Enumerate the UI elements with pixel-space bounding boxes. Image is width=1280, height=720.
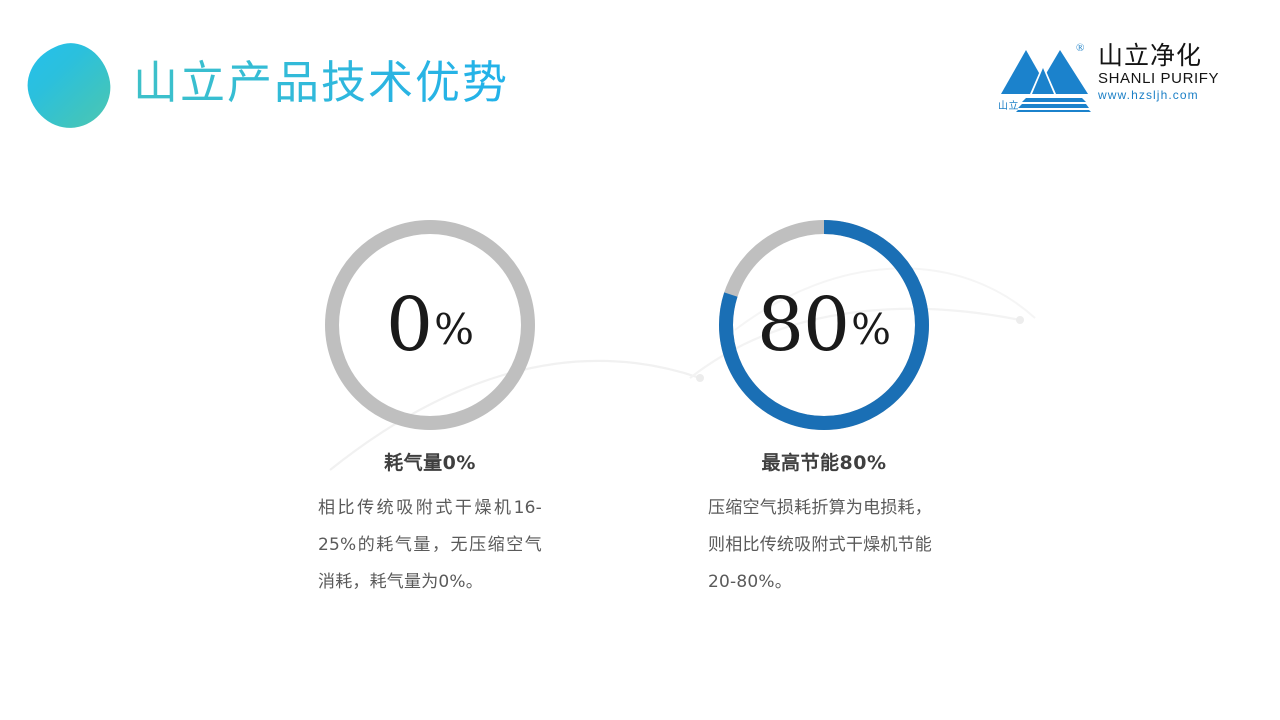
- donut-center-label-0: 0%: [325, 220, 535, 430]
- stat-card-description-0: 相比传统吸附式干燥机16-25%的耗气量，无压缩空气消耗，耗气量为0%。: [318, 490, 542, 601]
- stat-card-description-1: 压缩空气损耗折算为电损耗，则相比传统吸附式干燥机节能20-80%。: [708, 490, 932, 601]
- donut-value-0: 0: [386, 288, 432, 362]
- stat-card-energy-saving: 80% 最高节能80% 压缩空气损耗折算为电损耗，则相比传统吸附式干燥机节能20…: [674, 220, 974, 601]
- donut-unit-0: %: [434, 309, 474, 351]
- stat-cards-container: 0% 耗气量0% 相比传统吸附式干燥机16-25%的耗气量，无压缩空气消耗，耗气…: [0, 0, 1280, 720]
- donut-chart-gas-consumption: 0%: [325, 220, 535, 430]
- stat-card-title-0: 耗气量0%: [280, 450, 580, 476]
- donut-unit-1: %: [851, 309, 891, 351]
- donut-value-1: 80: [757, 288, 849, 362]
- donut-center-label-1: 80%: [719, 220, 929, 430]
- stat-card-title-1: 最高节能80%: [674, 450, 974, 476]
- donut-chart-energy-saving: 80%: [719, 220, 929, 430]
- slide-canvas: 山立产品技术优势 ® 山立 山立净化 SHANLI PURIFY www.hzs…: [0, 0, 1280, 720]
- stat-card-gas-consumption: 0% 耗气量0% 相比传统吸附式干燥机16-25%的耗气量，无压缩空气消耗，耗气…: [280, 220, 580, 601]
